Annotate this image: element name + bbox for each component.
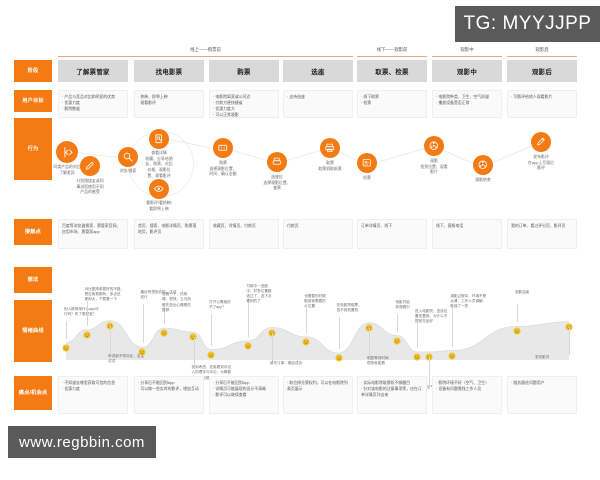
row-label-emotion: 情绪曲线	[14, 300, 52, 362]
emotion-note-line-6	[211, 314, 212, 346]
action-caption-try-products: 分别围绕友或同 事进而使用不同 产品的感受	[62, 178, 118, 195]
row-label-touchpoints: 接触点	[14, 219, 52, 245]
pain-opportunities-text-3: · 取位掉兑票权利，可以在电影院列表页展示	[287, 380, 349, 392]
emotion-note-17: 发布影评	[535, 355, 579, 360]
stage-header-2[interactable]: 购票	[209, 60, 279, 82]
action-caption-buy-ticket: 购票 选择观影位置、 时间、确认金额	[198, 160, 248, 177]
row-label-stage: 阶段	[14, 60, 52, 82]
emotion-note-line-16	[517, 304, 518, 322]
touchpoints-text-4: 订单详情页、线下	[361, 223, 423, 229]
phase-label-0: 线上——购票前	[58, 48, 353, 52]
emotion-note-10: 在电影院取票， 找不到放置机	[337, 303, 381, 313]
user-goals-text-2: · 电影院离家或公司近 · 付款方便快捷省 · 优惠力度大 · 可以正常观影	[213, 94, 275, 117]
action-caption-watch-end: 观影结束	[464, 177, 502, 183]
film-reel-icon[interactable]	[424, 136, 444, 156]
emotion-smiley-14[interactable]	[425, 348, 433, 356]
user-goals-text-1: · 热映、即将上映 · 观看影评	[138, 94, 200, 106]
emotion-note-line-1	[87, 301, 88, 326]
action-caption-check-ticket: 检票	[350, 175, 384, 181]
scan-icon[interactable]	[357, 153, 377, 173]
emotion-smiley-3[interactable]	[138, 343, 146, 351]
row-label-user_goals: 用户目标	[14, 90, 52, 112]
edit-pen-icon[interactable]	[80, 156, 100, 176]
emotion-note-8: 填写订单、确实成功	[270, 361, 314, 366]
emotion-note-line-14	[429, 357, 430, 385]
emotion-note-1: 对比更简单更好的不错， 是否免费都有，多点还 那用大，下载看一下	[85, 287, 129, 303]
emotion-note-line-17	[569, 327, 570, 355]
document-icon[interactable]	[149, 129, 169, 149]
emotion-smiley-13[interactable]	[413, 348, 421, 356]
action-caption-get-ticket: 取票 取票机取纸票	[307, 160, 353, 171]
touchpoints-text-1: 首页、搜索、电影详情页、购票落地页、影评页	[138, 223, 200, 235]
stage-header-6[interactable]: 观影后	[507, 60, 577, 82]
emotion-curve-chart: 别人推荐用什么app可 行吗？有了更便宜？对比更简单更好的不错， 是否免费都有，…	[58, 258, 577, 362]
telegram-watermark: TG: MYYJJPP	[455, 6, 600, 42]
action-caption-write-review: 发布影评 在app上写观后 影评	[515, 154, 567, 171]
emotion-note-line-9	[306, 308, 307, 333]
emotion-note-line-12	[397, 314, 398, 332]
emotion-curve-area	[58, 258, 577, 362]
stage-header-4[interactable]: 取票、检票	[357, 60, 427, 82]
emotion-note-line-10	[339, 317, 340, 349]
phase-label-2: 观影中	[432, 48, 502, 52]
phase-rule-2	[432, 56, 502, 57]
site-watermark: www.regbbin.com	[8, 426, 156, 458]
action-caption-review: 看影评/看热映/ 看即将上映	[134, 200, 184, 211]
phase-rule-1	[357, 56, 427, 57]
emotion-smiley-11[interactable]	[365, 319, 373, 327]
print-icon[interactable]	[320, 138, 340, 158]
user-goals-text-6: · 写影评给他人观看影片	[511, 94, 573, 100]
emotion-smiley-4[interactable]	[160, 324, 168, 332]
touchpoints-text-3: 付款页	[287, 223, 349, 229]
film-reel-icon[interactable]	[473, 155, 493, 175]
emotion-smiley-12[interactable]	[393, 332, 401, 340]
phase-label-3: 观影后	[507, 48, 577, 52]
row-label-pain_opp: 痛点/机会点	[14, 376, 52, 410]
stage-header-0[interactable]: 了解票管家	[58, 60, 128, 82]
user-goals-text-3: · 支持选座	[287, 94, 349, 100]
stage-header-3[interactable]: 选座	[283, 60, 353, 82]
emotion-note-line-5	[194, 337, 195, 365]
emotion-note-15: 观影过程中、环境不是 太清、工作人员调解、 耽误了一些	[450, 294, 494, 310]
emotion-smiley-2[interactable]	[106, 317, 114, 325]
emotion-note-line-11	[369, 328, 370, 356]
stage-header-5[interactable]: 观影中	[432, 60, 502, 82]
emotion-smiley-6[interactable]	[207, 346, 215, 354]
touchpoints-text-5: 线下、客服电话	[436, 223, 498, 229]
compose-icon[interactable]	[531, 132, 551, 152]
action-caption-film-detail: 查看详情 收藏、分享给朋 友、购票、对比 价格、观影位 置、观看影评	[134, 150, 184, 178]
emotion-note-line-8	[272, 333, 273, 361]
emotion-note-4: 想看一下，热映 哪、很快、立马然 都先放出心情看的 推荐	[162, 292, 206, 313]
emotion-smiley-0[interactable]	[62, 339, 70, 347]
action-caption-pick-seat: 选座位 选择观影位置、 查票	[253, 174, 301, 191]
user-goals-text-4: · 线下取票 · 检票	[361, 94, 423, 106]
emotion-note-7: 付款中一选座 中、好多位置都 选过了，选下次 看别的了	[246, 284, 290, 305]
row-label-thoughts: 想法	[14, 267, 52, 293]
emotion-smiley-7[interactable]	[244, 337, 252, 345]
pain-opportunities-text-5: · 影院环境不好（空气、卫生） · 设备有问题需找工作人员	[436, 380, 498, 392]
stage-header-1[interactable]: 找电影票	[134, 60, 204, 82]
pain-opportunities-text-4: · 实际电影院取票机不够醒目 · 针对该电影的注意事项等，应在订单详情页列出来	[361, 380, 423, 398]
user-goals-text-0: · 产品与竞品对比和明显的优势 · 优惠力度 · 影院数量	[62, 94, 124, 112]
action-caption-watch: 观影 找到位置、观看 影片	[410, 158, 458, 175]
pain-opportunities-text-1: · 分享后不能回到App · 可以做一些实时的影评，增加互动	[138, 380, 200, 392]
emotion-smiley-15[interactable]	[448, 347, 456, 355]
emotion-note-11: 明显等待时间 很快就能看	[367, 356, 411, 366]
emotion-smiley-8[interactable]	[268, 324, 276, 332]
pain-opportunities-text-6: · 服务跟进问题用户	[511, 380, 573, 386]
emotion-smiley-1[interactable]	[83, 326, 91, 334]
compare-icon[interactable]	[56, 141, 78, 163]
phase-rule-0	[58, 56, 353, 57]
emotion-note-line-3	[143, 304, 144, 343]
touchpoints-text-6: 我的订单、看过评分页、影评页	[511, 223, 573, 229]
emotion-note-line-13	[417, 323, 418, 348]
emotion-smiley-9[interactable]	[302, 333, 310, 341]
emotion-note-line-2	[110, 326, 111, 354]
touchpoints-text-2: 收藏页、详情页、付款页	[213, 223, 275, 229]
ticket-icon[interactable]	[213, 138, 233, 158]
user-goals-text-5: · 电影院种类、卫生、空气质量 · 播放设备是否正常	[436, 94, 498, 106]
seat-icon[interactable]	[267, 152, 287, 172]
phase-rule-3	[507, 56, 577, 57]
phase-label-1: 线下——观影前	[357, 48, 427, 52]
journey-map-canvas: TG: MYYJJPP www.regbbin.com 线上——购票前线下——观…	[0, 0, 600, 480]
touchpoints-text-0: 百度等浏览器搜索、票管家官网、应用市场、票管家app	[62, 223, 124, 235]
emotion-smiley-16[interactable]	[513, 322, 521, 330]
emotion-smiley-10[interactable]	[335, 349, 343, 357]
pain-opportunities-text-0: · 不知道去哪里获取可信的信息 · 优惠力度	[62, 380, 124, 392]
eye-icon[interactable]	[149, 179, 169, 199]
emotion-note-line-15	[452, 308, 453, 347]
emotion-smiley-17[interactable]	[565, 318, 573, 326]
emotion-note-line-0	[66, 321, 67, 339]
emotion-note-16: 观影结束	[515, 290, 559, 295]
emotion-smiley-5[interactable]	[189, 328, 197, 336]
pain-opportunities-text-2: · 分享后不能回到App · 详情页可能展现的设计不清晰 · 影评可以继续查看	[213, 380, 275, 398]
